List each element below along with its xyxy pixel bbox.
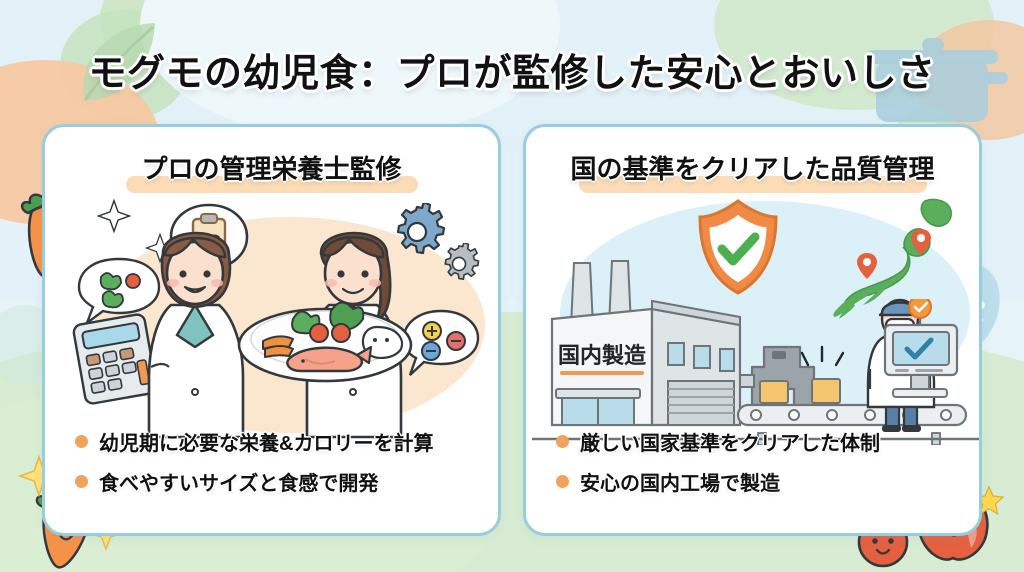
card-bullets: 厳しい国家基準をクリアした体制 安心の国内工場で製造 [556,427,880,507]
check-stamp-icon [909,299,931,325]
bullet-text: 幼児期に必要な栄養&カロリーを計算 [99,427,433,456]
list-item: 安心の国内工場で製造 [556,467,880,496]
card-quality[interactable]: 国の基準をクリアした品質管理 [523,124,982,536]
bullet-dot-icon [75,475,88,488]
bullet-text: 食べやすいサイズと食感で開発 [99,467,378,496]
card-bullets: 幼児期に必要な栄養&カロリーを計算 食べやすいサイズと食感で開発 [75,427,433,507]
qc-monitor-icon [871,299,967,415]
card-heading: プロの管理栄養士監修 [45,149,498,195]
list-item: 厳しい国家基準をクリアした体制 [556,427,880,456]
card-heading: 国の基準をクリアした品質管理 [526,149,979,195]
card-dietitian[interactable]: プロの管理栄養士監修 [42,124,501,536]
list-item: 幼児期に必要な栄養&カロリーを計算 [75,427,433,456]
bullet-dot-icon [556,435,569,448]
page-title: モグモの幼児食：プロが監修した安心とおいしさ [0,42,1024,97]
list-item: 食べやすいサイズと食感で開発 [75,467,433,496]
sparkle-icon [97,199,131,233]
card-heading-text: プロの管理栄養士監修 [141,154,401,184]
dietitian-illustration: RD [45,195,498,445]
infographic-canvas: モグモの幼児食：プロが監修した安心とおいしさ プロの管理栄養士監修 [0,0,1024,572]
bullet-text: 安心の国内工場で製造 [580,467,780,496]
quality-illustration: 国内製造 [526,195,979,445]
sign-underline [560,371,644,375]
cards-row: プロの管理栄養士監修 [42,124,982,536]
card-heading-text: 国の基準をクリアした品質管理 [570,154,934,184]
factory-sign-label: 国内製造 [558,343,646,368]
meal-plate-icon [235,283,415,388]
bullet-text: 厳しい国家基準をクリアした体制 [580,427,880,456]
bullet-dot-icon [556,475,569,488]
bullet-dot-icon [75,435,88,448]
